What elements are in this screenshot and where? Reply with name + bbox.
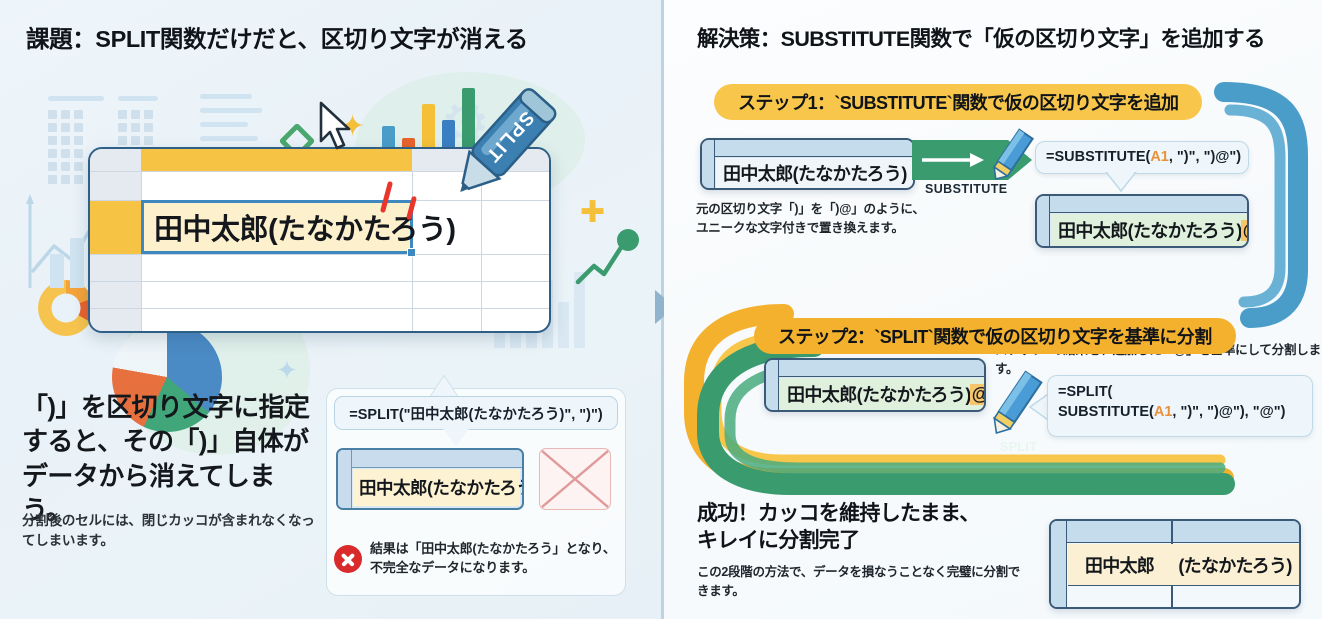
bubble-tail-icon [1104,172,1138,192]
table-row: 田中太郎 (たなかたろう) [1068,544,1299,586]
step1-caption: 元の区切り文字「)」を「)@」のように、 ユニークな文字付きで置き換えます。 [696,200,1006,238]
decorative-sparkle-icon: ✦ [276,357,298,383]
selected-row-header [90,200,141,254]
success-title: 成功！カッコを維持したまま、 キレイに分割完了 [697,500,1027,555]
left-problem-panel: ✦ ✚ ✦ ⚙ 課題：SPLIT関数だけだと、区切 [0,0,661,619]
error-message-text: 結果は「田中太郎(たなかたろう」となり、不完全なデータになります。 [370,540,624,578]
substitute-formula-text: =SUBSTITUTE(A1, ")", ")@") [1036,148,1251,168]
step1-output-cell-value: 田中太郎(たなかたろう)@ [1051,214,1247,246]
mouse-cursor-icon [318,101,358,153]
active-cell[interactable]: 田中太郎(たなかたろう) [141,200,413,254]
cell-header [766,360,984,377]
split-formula-text-2: =SPLIT( SUBSTITUTE(A1, ")", ")@"), "@") [1048,383,1295,422]
at-marker: @ [970,384,986,405]
final-result-table: 田中太郎 (たなかたろう) [1049,519,1301,609]
result-cell-rowheader [338,450,352,508]
pencil-icon [987,126,1037,184]
decorative-line [48,96,104,101]
decorative-growth-icon [570,222,650,302]
cell-rowheader [1037,196,1050,246]
formula-prefix: =SUBSTITUTE( [1046,149,1150,165]
cell-rowheader [766,360,779,410]
result-cell-header [338,450,522,468]
table-header-row [1051,521,1299,543]
cell-reference-2: A1 [1154,404,1173,420]
substitute-band-label: SUBSTITUTE [925,182,1007,196]
cell-reference: A1 [1150,149,1169,165]
error-message-row: 結果は「田中太郎(たなかたろう」となり、不完全なデータになります。 [334,530,624,588]
step2-input-cell-value: 田中太郎(たなかたろう)@ [780,378,984,410]
step1-ribbon: ステップ1：`SUBSTITUTE`関数で仮の区切り文字を追加 [714,84,1202,120]
formula-line-2a: SUBSTITUTE( [1058,404,1154,420]
decorative-line [118,96,158,101]
right-panel-title: 解決策：SUBSTITUTE関数で「仮の区切り文字」を追加する [697,22,1265,53]
split-formula-bubble: =SPLIT("田中太郎(たなかたろう)", ")") [334,396,618,430]
step1-input-cell-value: 田中太郎(たなかたろう) [716,158,913,188]
decorative-dot-grid-2 [118,110,153,145]
cross-out-icon [540,449,610,509]
left-panel-title: 課題：SPLIT関数だけだと、区切り文字が消える [26,20,528,54]
formula-line-2b: , ")", ")@"), "@") [1172,404,1285,420]
split-band-label: SPLIT [1000,440,1037,454]
infographic-root: ✦ ✚ ✦ ⚙ 課題：SPLIT関数だけだと、区切 [0,0,1322,619]
decorative-line [200,108,262,113]
decorative-line [200,122,248,127]
split-formula-text: =SPLIT("田中太郎(たなかたろう)", ")") [349,403,602,424]
right-solution-panel: 解決策：SUBSTITUTE関数で「仮の区切り文字」を追加する ステップ1：`S… [664,0,1322,619]
result-cell-value: 田中太郎(たなかたろう [353,469,520,506]
decorative-line [200,94,252,99]
at-marker: @ [1241,220,1249,241]
table-row-header [1051,521,1067,607]
cell-header [702,140,913,157]
step2-ribbon: ステップ2：`SPLIT`関数で仮の区切り文字を基準に分割 [754,318,1236,354]
formula-suffix: , ")", ")@") [1169,149,1241,165]
split-formula-bubble-2: =SPLIT( SUBSTITUTE(A1, ")", ")@"), "@") [1047,375,1313,437]
left-sub-text: 分割後のセルには、閉じカッコが含まれなくなってしまいます。 [22,511,327,552]
step2-input-cell: 田中太郎(たなかたろう)@ [764,358,986,412]
bubble-tail-down [443,429,469,446]
left-lead-text: 「)」を区切り文字に指定すると、その「)」自体がデータから消えてしまう。 [22,390,322,527]
bubble-tail-up [430,376,458,397]
step1-ribbon-label: ステップ1：`SUBSTITUTE`関数で仮の区切り文字を追加 [738,89,1178,115]
cell-fill-handle[interactable] [407,248,416,257]
input-cell-text: 田中太郎(たなかたろう) [787,381,971,407]
decorative-dot-grid [48,110,83,184]
formula-line-1: =SPLIT( [1058,384,1112,400]
success-sub-text: この2段階の方法で、データを損なうことなく完璧に分割できます。 [697,563,1027,601]
cell-header [1037,196,1247,213]
substitute-formula-bubble: =SUBSTITUTE(A1, ")", ")@") [1035,141,1249,174]
split-pen-icon: SPLIT [438,78,568,208]
result-cell-box: 田中太郎(たなかたろう [336,448,524,510]
selected-column-header [141,149,412,171]
decorative-line [200,136,258,141]
step2-ribbon-label: ステップ2：`SPLIT`関数で仮の区切り文字を基準に分割 [778,323,1212,349]
step1-input-cell: 田中太郎(たなかたろう) [700,138,915,190]
output-cell-text: 田中太郎(たなかたろう) [1058,217,1242,243]
empty-cell-crossed-out [539,448,611,510]
cell-rowheader [702,140,715,188]
table-cell-2: (たなかたろう) [1171,544,1299,585]
table-cell-1: 田中太郎 [1068,544,1171,585]
x-circle-icon [334,545,362,573]
step1-output-cell: 田中太郎(たなかたろう)@ [1035,194,1249,248]
